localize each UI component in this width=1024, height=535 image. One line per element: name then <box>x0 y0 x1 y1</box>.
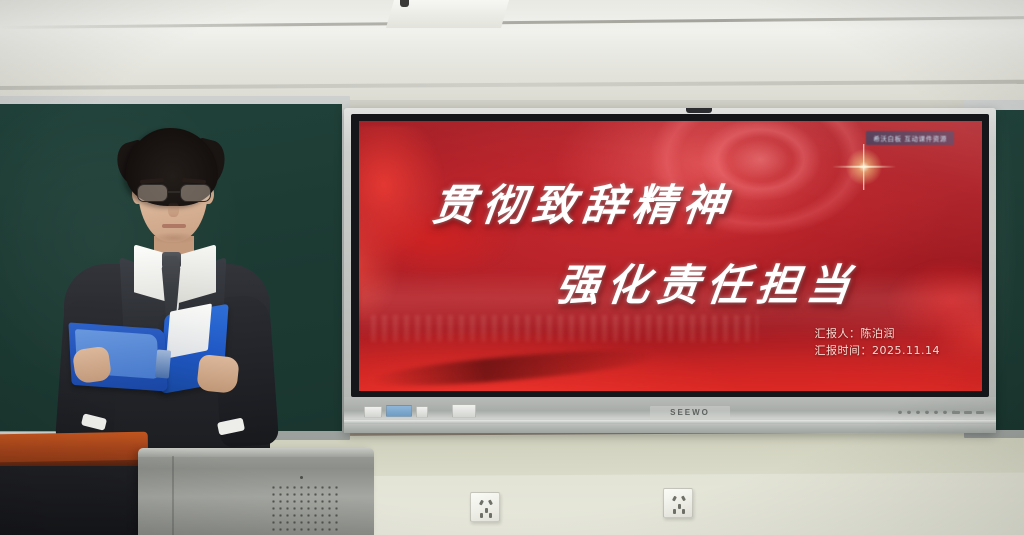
wall-outlet-right[interactable] <box>663 488 693 518</box>
back-button-icon[interactable] <box>916 410 920 414</box>
spec-sticker <box>364 406 382 418</box>
display-chassis-edge <box>344 420 996 424</box>
socket-pin <box>485 508 488 513</box>
chin-shadow <box>150 232 198 244</box>
glasses-bridge <box>168 191 180 193</box>
slide-report-date: 汇报时间：2025.11.14 <box>815 342 940 359</box>
serial-sticker <box>416 406 428 418</box>
hand-left <box>72 346 112 385</box>
camera-icon <box>686 108 712 113</box>
brand-logo: SEEWO <box>650 406 730 419</box>
speaker-grille <box>270 484 338 535</box>
socket-pin <box>489 513 492 518</box>
socket-pin <box>672 496 677 502</box>
socket-pin <box>488 500 493 506</box>
display-screen[interactable]: 希沃白板 互动课件资源 贯彻致辞精神 强化责任担当 汇报人：陈泊润 汇报时间：2… <box>359 121 982 391</box>
slide-title-line-2: 强化责任担当 <box>553 251 861 313</box>
slide-title-line-1: 贯彻致辞精神 <box>429 171 737 233</box>
rating-sticker <box>452 404 476 418</box>
folder-spine <box>155 349 171 378</box>
speaker-indicator-icon <box>300 476 303 479</box>
volume-up-button-icon[interactable] <box>943 410 947 414</box>
menu-button-icon[interactable] <box>925 410 929 414</box>
display-port-row[interactable] <box>952 411 984 414</box>
energy-label-sticker <box>386 405 412 417</box>
slide-meta-block: 汇报人：陈泊润 汇报时间：2025.11.14 <box>815 325 940 359</box>
ceiling-hook-icon <box>400 0 409 7</box>
aux-port-icon[interactable] <box>976 411 984 414</box>
home-button-icon[interactable] <box>907 410 911 414</box>
folder-papers <box>166 303 212 358</box>
outlet-sockets <box>668 493 688 513</box>
usb-port-icon[interactable] <box>952 411 960 414</box>
lens-left <box>137 184 168 202</box>
socket-pin <box>682 509 685 514</box>
cabinet-seam <box>172 456 174 535</box>
socket-pin <box>479 500 484 506</box>
power-button-icon[interactable] <box>898 410 902 414</box>
socket-pin <box>681 496 686 502</box>
eyeglasses-icon <box>134 184 214 203</box>
classroom-photo: 希沃白板 互动课件资源 贯彻致辞精神 强化责任担当 汇报人：陈泊润 汇报时间：2… <box>0 0 1024 535</box>
nose <box>168 202 179 217</box>
volume-down-button-icon[interactable] <box>934 410 938 414</box>
display-control-buttons[interactable] <box>898 410 956 414</box>
presenter <box>30 128 300 458</box>
hdmi-port-icon[interactable] <box>964 411 972 414</box>
slide-presenter-name: 汇报人：陈泊润 <box>815 325 940 342</box>
socket-pin <box>673 509 676 514</box>
lens-right <box>180 184 211 202</box>
lectern-body <box>0 466 138 535</box>
mouth <box>162 224 186 228</box>
hand-right <box>196 354 240 394</box>
outlet-sockets <box>475 497 495 517</box>
wall-outlet-left[interactable] <box>470 492 500 522</box>
socket-pin <box>480 513 483 518</box>
socket-pin <box>678 504 681 509</box>
